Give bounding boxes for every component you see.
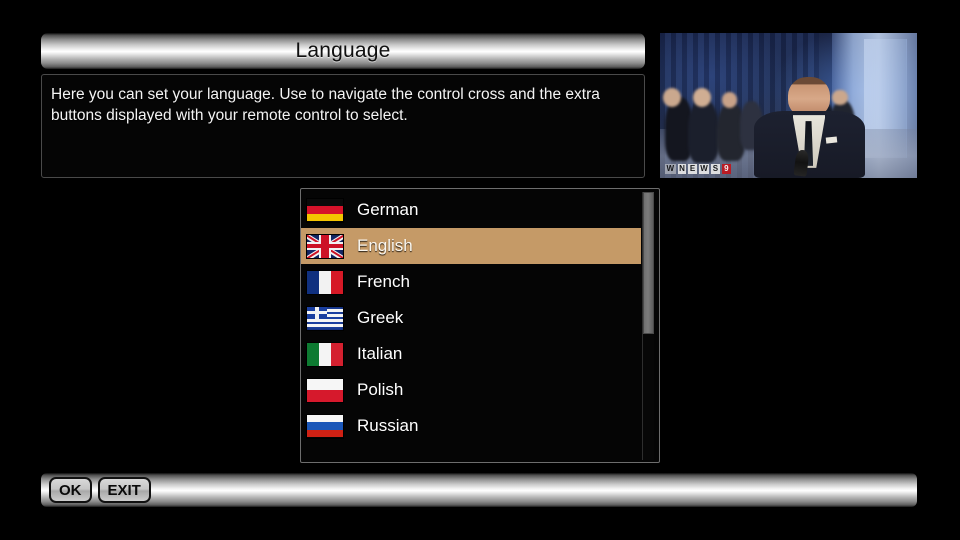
language-list-item-greek[interactable]: Greek <box>301 300 641 336</box>
bug-letter-e: E <box>688 164 696 174</box>
language-list-item-italian[interactable]: Italian <box>301 336 641 372</box>
language-label: Polish <box>357 380 403 400</box>
language-list-item-english[interactable]: English <box>301 228 641 264</box>
bug-letter-s: S <box>711 164 719 174</box>
language-label: Russian <box>357 416 418 436</box>
bug-prefix: W <box>665 164 676 174</box>
video-preview[interactable]: W N E W S 9 <box>660 33 917 178</box>
language-list-panel: GermanEnglishFrenchGreekItalianPolishRus… <box>300 188 660 463</box>
bug-letter-w: W <box>699 164 710 174</box>
language-label: Greek <box>357 308 403 328</box>
language-list-item-german[interactable]: German <box>301 192 641 228</box>
language-list-item-russian[interactable]: Russian <box>301 408 641 444</box>
language-label: German <box>357 200 418 220</box>
language-list-item-polish[interactable]: Polish <box>301 372 641 408</box>
language-label: Italian <box>357 344 402 364</box>
flag-fr-icon <box>306 270 344 295</box>
flag-ru-icon <box>306 414 344 439</box>
exit-button[interactable]: EXIT <box>98 477 151 503</box>
description-panel: Here you can set your language. Use to n… <box>41 74 645 178</box>
description-text: Here you can set your language. Use to n… <box>51 84 631 126</box>
ok-button[interactable]: OK <box>49 477 92 503</box>
video-reporter <box>758 77 861 179</box>
video-crowd-figure <box>663 88 681 107</box>
flag-it-icon <box>306 342 344 367</box>
list-scrollbar-thumb[interactable] <box>643 192 654 334</box>
page-title: Language <box>295 39 390 63</box>
tv-settings-screen: Language Here you can set your language.… <box>0 0 960 540</box>
channel-logo-watermark: W N E W S 9 <box>665 163 731 175</box>
list-scrollbar-track[interactable] <box>642 192 654 460</box>
title-bar: Language <box>41 33 645 69</box>
flag-gr-icon <box>306 306 344 331</box>
footer-button-group: OKEXIT <box>49 477 151 503</box>
language-label: French <box>357 272 410 292</box>
flag-gb-icon <box>306 234 344 259</box>
footer-bar: OKEXIT <box>41 473 917 507</box>
language-label: English <box>357 236 413 256</box>
bug-letter-n: N <box>678 164 687 174</box>
flag-pl-icon <box>306 378 344 403</box>
video-crowd-figure <box>688 100 719 164</box>
flag-de-icon <box>306 198 344 223</box>
language-list: GermanEnglishFrenchGreekItalianPolishRus… <box>301 192 641 444</box>
bug-badge: 9 <box>722 164 731 174</box>
language-list-item-french[interactable]: French <box>301 264 641 300</box>
